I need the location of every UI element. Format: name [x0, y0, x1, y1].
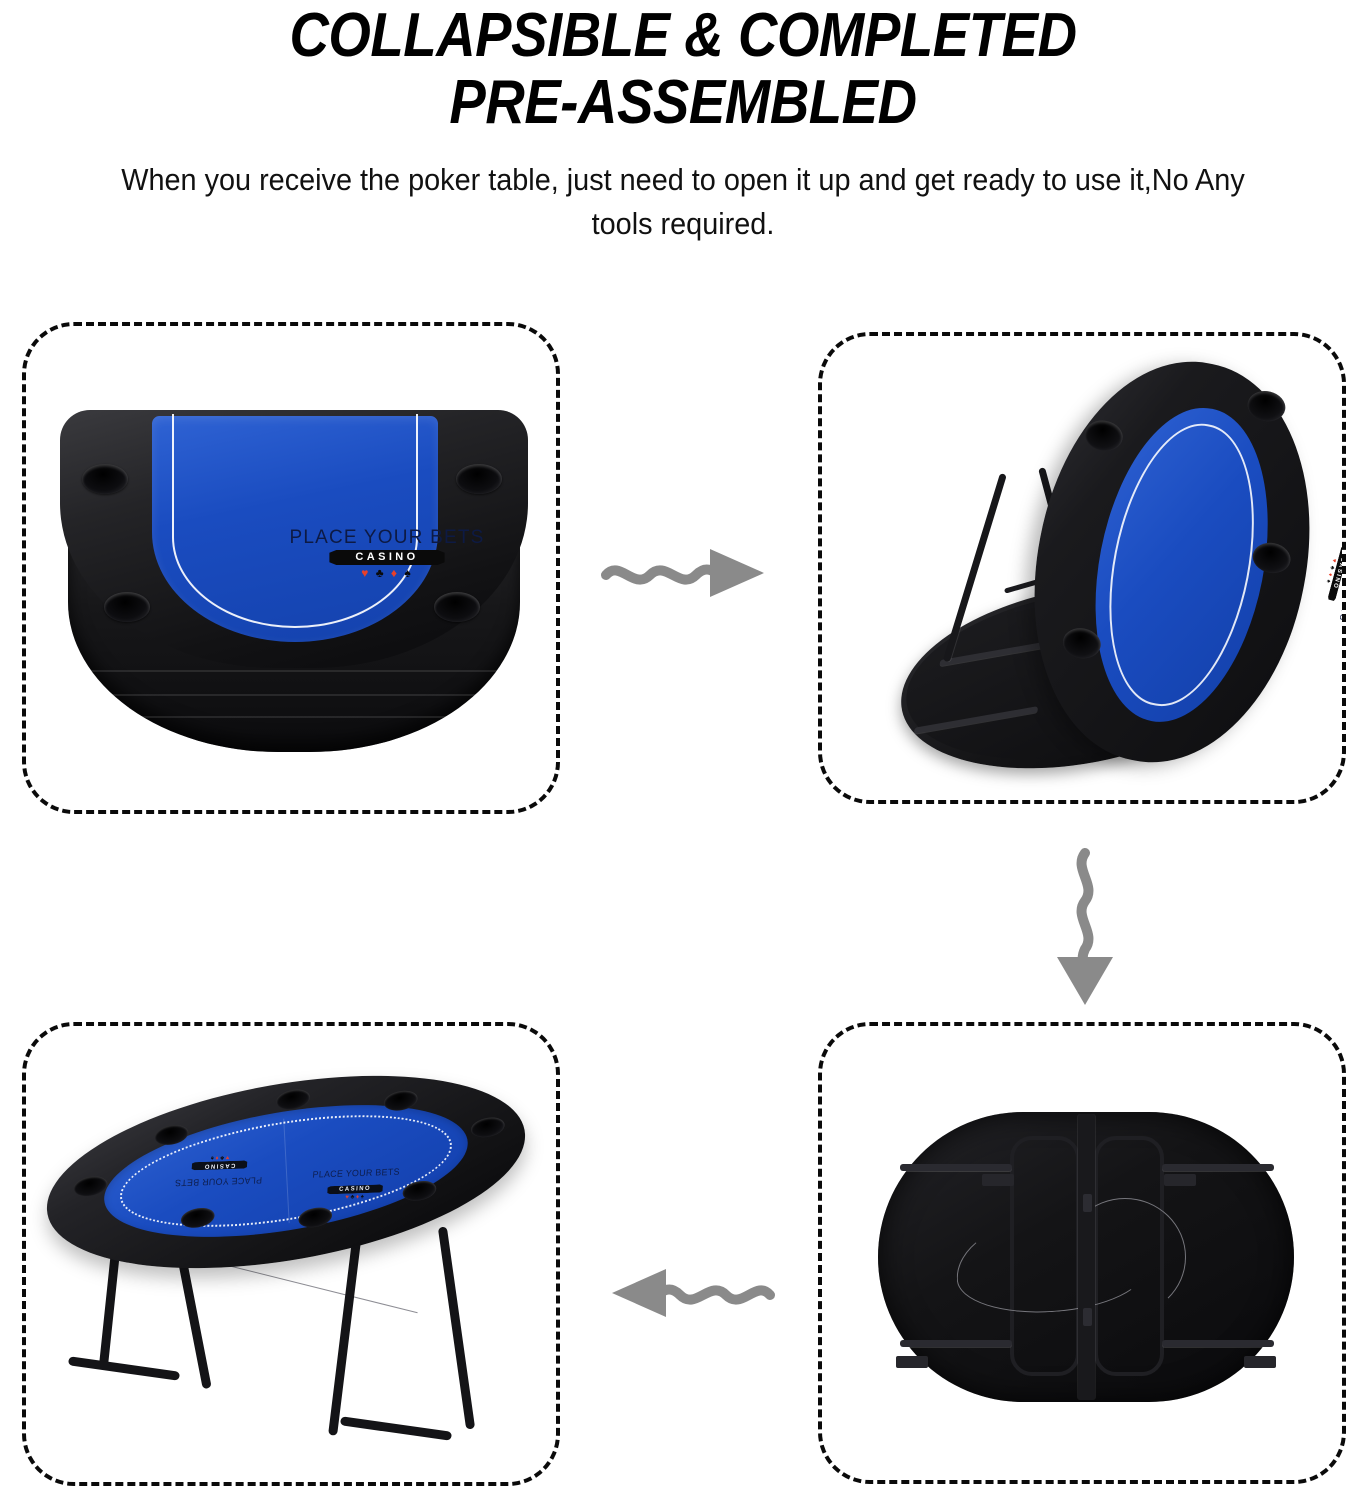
stack-seam-line: [86, 670, 502, 672]
hinge-plate: [896, 1356, 928, 1368]
assembled-table-illustration: PLACE YOUR BETS CASINO ♥ ♣ ♦ ♠ PLACE YOU…: [40, 1064, 550, 1468]
diamond-icon: ♦: [356, 1194, 359, 1200]
spade-icon: ♠: [404, 566, 412, 580]
page-subtitle: When you receive the poker table, just n…: [92, 158, 1273, 246]
club-icon: ♣: [350, 1194, 354, 1200]
underside-image: [822, 1026, 1342, 1480]
leg-mount-rail: [1162, 1164, 1274, 1171]
cup-holder: [471, 1115, 506, 1139]
cup-holder: [82, 464, 128, 494]
page-title-line2: PRE-ASSEMBLED: [82, 71, 1284, 134]
logo-casino-band: CASINO: [327, 1184, 383, 1194]
cup-holder: [434, 592, 480, 622]
hinge-plate: [1164, 1174, 1196, 1186]
panel-folded-stack: PLACE YOUR BETS CASINO ♥ ♣ ♦ ♠: [22, 322, 560, 814]
folded-table-illustration: PLACE YOUR BETS CASINO ♥ ♣ ♦ ♠: [60, 388, 530, 768]
spade-icon: ♠: [211, 1154, 215, 1160]
table-leg: [438, 1226, 475, 1429]
diamond-icon: ♦: [391, 566, 399, 580]
leg-foot-bar: [340, 1416, 452, 1440]
hinge-pin: [1083, 1308, 1092, 1326]
half-folded-image: PLACE YOUR BETS CASINO ♥ ♣ ♦ ♠: [822, 336, 1342, 800]
table-logo: PLACE YOUR BETS CASINO ♥ ♣ ♦ ♠: [290, 1167, 420, 1203]
cup-holder: [456, 464, 502, 494]
header: COLLAPSIBLE & COMPLETED PRE-ASSEMBLED Wh…: [0, 0, 1366, 247]
arrow-right-icon: [598, 525, 778, 615]
panel-underside-folded-legs: [818, 1022, 1346, 1484]
cup-holder: [1082, 417, 1125, 454]
heart-icon: ♥: [1330, 558, 1337, 564]
underside-illustration: [878, 1112, 1294, 1402]
heart-icon: ♥: [361, 566, 370, 580]
hinge-plate: [982, 1174, 1014, 1186]
club-icon: ♣: [376, 566, 386, 580]
leg-mount-rail: [900, 1164, 1012, 1171]
hinge-plate: [1244, 1356, 1276, 1368]
panel-half-folded-open: PLACE YOUR BETS CASINO ♥ ♣ ♦ ♠: [818, 332, 1346, 804]
spade-icon: ♠: [1324, 579, 1331, 585]
page-title-line1: COLLAPSIBLE & COMPLETED: [82, 4, 1284, 67]
stack-seam-line: [86, 716, 502, 718]
arrow-down-icon: [1035, 845, 1135, 1015]
folded-stack-image: PLACE YOUR BETS CASINO ♥ ♣ ♦ ♠: [26, 326, 556, 810]
assembled-table-image: PLACE YOUR BETS CASINO ♥ ♣ ♦ ♠ PLACE YOU…: [26, 1026, 556, 1482]
half-folded-illustration: PLACE YOUR BETS CASINO ♥ ♣ ♦ ♠: [842, 356, 1334, 792]
cup-holder: [104, 592, 150, 622]
racetrack-line: [172, 414, 418, 628]
table-logo: PLACE YOUR BETS CASINO ♥ ♣ ♦ ♠: [154, 1152, 284, 1188]
table-logo: PLACE YOUR BETS CASINO ♥ ♣ ♦ ♠: [242, 528, 532, 579]
cup-holder: [1245, 388, 1288, 425]
diamond-icon: ♦: [215, 1154, 218, 1160]
cup-holder: [73, 1174, 108, 1198]
table-logo: PLACE YOUR BETS CASINO ♥ ♣ ♦ ♠: [1312, 512, 1342, 636]
panel-assembled-table: PLACE YOUR BETS CASINO ♥ ♣ ♦ ♠ PLACE YOU…: [22, 1022, 560, 1486]
diamond-icon: ♦: [1326, 572, 1333, 577]
leg-foot-bar: [68, 1356, 180, 1380]
racetrack-line: [1088, 412, 1276, 719]
logo-casino-band: CASINO: [329, 550, 444, 565]
heart-icon: ♥: [345, 1195, 349, 1201]
oval-table-top: PLACE YOUR BETS CASINO ♥ ♣ ♦ ♠ PLACE YOU…: [42, 1046, 529, 1298]
logo-top-text: PLACE YOUR BETS: [242, 528, 532, 547]
center-hinge: [1078, 1114, 1095, 1400]
leg-mount-rail: [1162, 1340, 1274, 1347]
spade-icon: ♠: [360, 1194, 364, 1200]
heart-icon: ♥: [226, 1154, 230, 1160]
club-icon: ♣: [1328, 565, 1335, 571]
club-icon: ♣: [220, 1154, 224, 1160]
blue-felt-surface: PLACE YOUR BETS CASINO ♥ ♣ ♦ ♠: [152, 416, 438, 642]
leg-mount-rail: [900, 1340, 1012, 1347]
stack-seam-line: [86, 694, 502, 696]
table-underside: [878, 1112, 1294, 1402]
table-leg: [328, 1240, 361, 1436]
logo-casino-band: CASINO: [191, 1160, 247, 1170]
arrow-left-icon: [598, 1245, 778, 1335]
logo-card-suits: ♥ ♣ ♦ ♠: [242, 567, 532, 579]
hinge-pin: [1083, 1194, 1092, 1212]
